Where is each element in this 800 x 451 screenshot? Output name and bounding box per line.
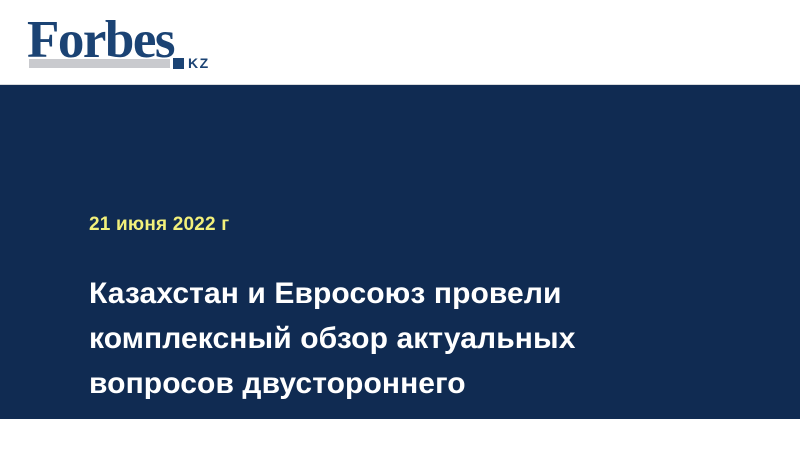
headline-line: сотрудничества	[89, 406, 729, 451]
publish-date: 21 июня 2022 г	[89, 213, 229, 237]
logo-kz-suffix: KZ	[188, 56, 210, 70]
logo-rule-decoration	[29, 59, 170, 68]
forbes-kz-logo[interactable]: Forbes KZ	[27, 14, 227, 76]
headline-line: Казахстан и Евросоюз провели	[89, 271, 729, 316]
article-share-card: Forbes KZ 21 июня 2022 г Казахстан и Евр…	[0, 0, 800, 419]
headline-line: вопросов двустороннего	[89, 361, 729, 406]
site-header: Forbes KZ	[0, 0, 800, 85]
logo-square-icon	[173, 58, 184, 69]
headline-line: комплексный обзор актуальных	[89, 316, 729, 361]
article-hero-panel: 21 июня 2022 г Казахстан и Евросоюз пров…	[0, 85, 800, 419]
article-headline: Казахстан и Евросоюз провели комплексный…	[89, 271, 729, 451]
